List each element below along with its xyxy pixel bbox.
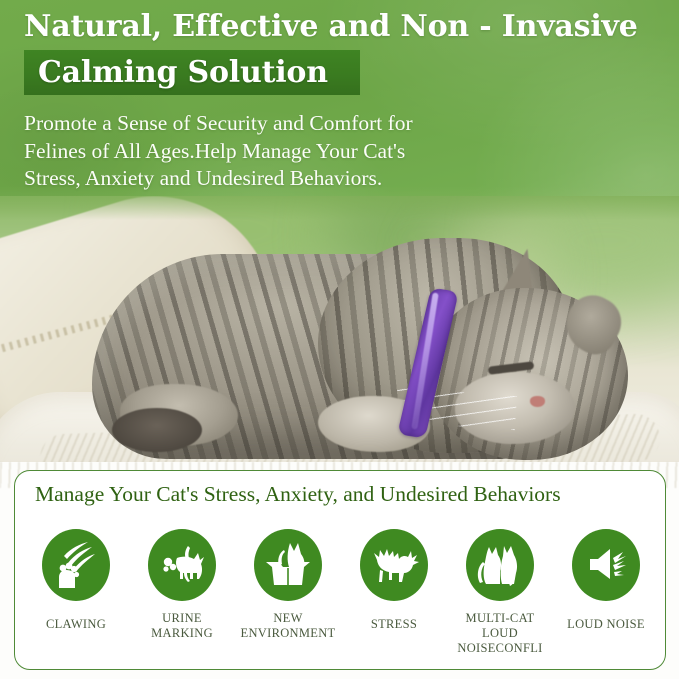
two-cats-icon: [466, 529, 534, 601]
behavior-label: STRESS: [371, 617, 417, 632]
behavior-label: URINE MARKING: [151, 611, 213, 641]
behavior-label: NEW ENVIRONMENT: [241, 611, 336, 641]
loud-speaker-icon: [572, 529, 640, 601]
behavior-label-line1: NEW: [273, 611, 302, 625]
behavior-label-line1: MULTI-CAT: [466, 611, 535, 625]
cat-paw-shadow: [112, 408, 202, 452]
hero-title-line2: Calming Solution: [38, 53, 328, 93]
behavior-label: LOUD NOISE: [567, 617, 645, 632]
behavior-label-line1: STRESS: [371, 617, 417, 631]
hero-subtitle-line3: Stress, Anxiety and Undesired Behaviors.: [24, 165, 494, 193]
behavior-icon-row: CLAWING: [23, 529, 659, 659]
behavior-label-line1: URINE: [162, 611, 202, 625]
behavior-label-line2: ENVIRONMENT: [241, 626, 336, 641]
hero-title-line1: Natural, Effective and Non - Invasive: [24, 8, 644, 46]
behavior-label: CLAWING: [46, 617, 106, 632]
behavior-label-line1: LOUD NOISE: [567, 617, 645, 631]
behavior-item-new-environment[interactable]: NEW ENVIRONMENT: [235, 529, 341, 641]
behavior-item-clawing[interactable]: CLAWING: [23, 529, 129, 632]
paw-scratch-icon: [42, 529, 110, 601]
benefits-card-title: Manage Your Cat's Stress, Anxiety, and U…: [35, 480, 561, 508]
benefits-card: Manage Your Cat's Stress, Anxiety, and U…: [14, 470, 666, 670]
cat-spraying-icon: [148, 529, 216, 601]
behavior-label: MULTI-CAT LOUD NOISECONFLI: [447, 611, 553, 656]
behavior-item-loud-noise[interactable]: LOUD NOISE: [553, 529, 659, 632]
cat-photo: [0, 196, 679, 476]
cat-nose: [530, 396, 545, 407]
hero-subtitle-line2: Felines of All Ages.Help Manage Your Cat…: [24, 138, 494, 166]
hero-subtitle: Promote a Sense of Security and Comfort …: [24, 110, 494, 193]
behavior-item-multi-cat[interactable]: MULTI-CAT LOUD NOISECONFLI: [447, 529, 553, 656]
behavior-item-urine-marking[interactable]: URINE MARKING: [129, 529, 235, 641]
hero-subtitle-line1: Promote a Sense of Security and Comfort …: [24, 110, 494, 138]
hero-title-highlight-box: Calming Solution: [24, 50, 360, 95]
startled-cat-icon: [360, 529, 428, 601]
behavior-label-line1: CLAWING: [46, 617, 106, 631]
cat-in-box-icon: [254, 529, 322, 601]
product-banner: Natural, Effective and Non - Invasive Ca…: [0, 0, 679, 679]
behavior-item-stress[interactable]: STRESS: [341, 529, 447, 632]
behavior-label-line2: MARKING: [151, 626, 213, 641]
behavior-label-line2: LOUD NOISECONFLI: [447, 626, 553, 656]
